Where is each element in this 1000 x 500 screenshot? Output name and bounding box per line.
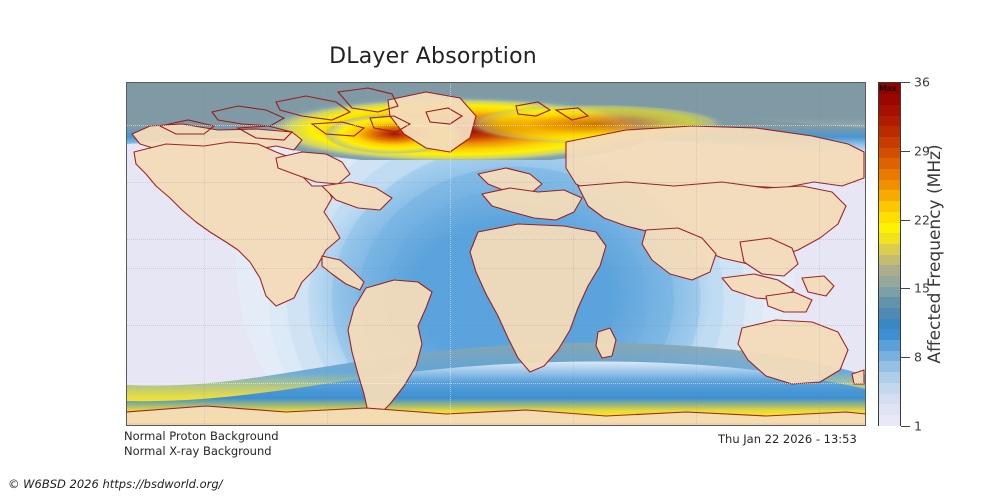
colorbar-swatch <box>879 115 900 126</box>
colorbar-swatch <box>879 372 900 383</box>
colorbar-swatch <box>879 211 900 222</box>
dlayer-absorption-figure: DLayer Absorption <box>0 0 1000 500</box>
colorbar-swatch <box>879 94 900 105</box>
colorbar-swatch <box>879 382 900 393</box>
xray-background-status: Normal X-ray Background <box>124 444 279 459</box>
colorbar-swatch <box>879 233 900 244</box>
colorbar-tick <box>901 357 910 358</box>
colorbar-swatch <box>879 222 900 233</box>
colorbar-swatch <box>879 201 900 212</box>
colorbar-swatch <box>879 414 900 425</box>
timestamp-label: Thu Jan 22 2026 - 13:53 <box>718 432 857 446</box>
colorbar-swatch <box>879 126 900 137</box>
colorbar-tick-label: 8 <box>914 350 922 365</box>
colorbar-swatch <box>879 297 900 308</box>
colorbar-swatch <box>879 318 900 329</box>
colorbar-tick <box>901 151 910 152</box>
colorbar-swatch <box>879 158 900 169</box>
colorbar <box>878 82 901 426</box>
colorbar-swatch <box>879 393 900 404</box>
world-absorption-map[interactable] <box>126 82 866 426</box>
background-status-legend: Normal Proton Background Normal X-ray Ba… <box>124 429 279 459</box>
colorbar-swatch <box>879 265 900 276</box>
colorbar-swatch <box>879 104 900 115</box>
copyright-credit: © W6BSD 2026 https://bsdworld.org/ <box>8 477 223 491</box>
colorbar-swatch <box>879 190 900 201</box>
colorbar-swatch <box>879 169 900 180</box>
colorbar-swatch <box>879 275 900 286</box>
colorbar-tick <box>901 288 910 289</box>
colorbar-tick <box>901 426 910 427</box>
colorbar-swatch <box>879 350 900 361</box>
map-graticule <box>126 82 866 426</box>
colorbar-swatch <box>879 361 900 372</box>
colorbar-swatch <box>879 329 900 340</box>
colorbar-swatch <box>879 340 900 351</box>
colorbar-tick-label: 1 <box>914 419 922 434</box>
colorbar-axis-title: Affected Frequency (MHz) <box>925 82 949 426</box>
colorbar-swatch <box>879 254 900 265</box>
colorbar-swatch <box>879 404 900 415</box>
page-title: DLayer Absorption <box>0 44 866 69</box>
colorbar-swatch <box>879 286 900 297</box>
colorbar-swatch <box>879 307 900 318</box>
colorbar-tick <box>901 220 910 221</box>
colorbar-swatch <box>879 179 900 190</box>
colorbar-swatch <box>879 243 900 254</box>
colorbar-max-label: Max <box>879 84 897 93</box>
colorbar-tick <box>901 82 910 83</box>
colorbar-swatch <box>879 136 900 147</box>
proton-background-status: Normal Proton Background <box>124 429 279 444</box>
colorbar-swatch <box>879 147 900 158</box>
